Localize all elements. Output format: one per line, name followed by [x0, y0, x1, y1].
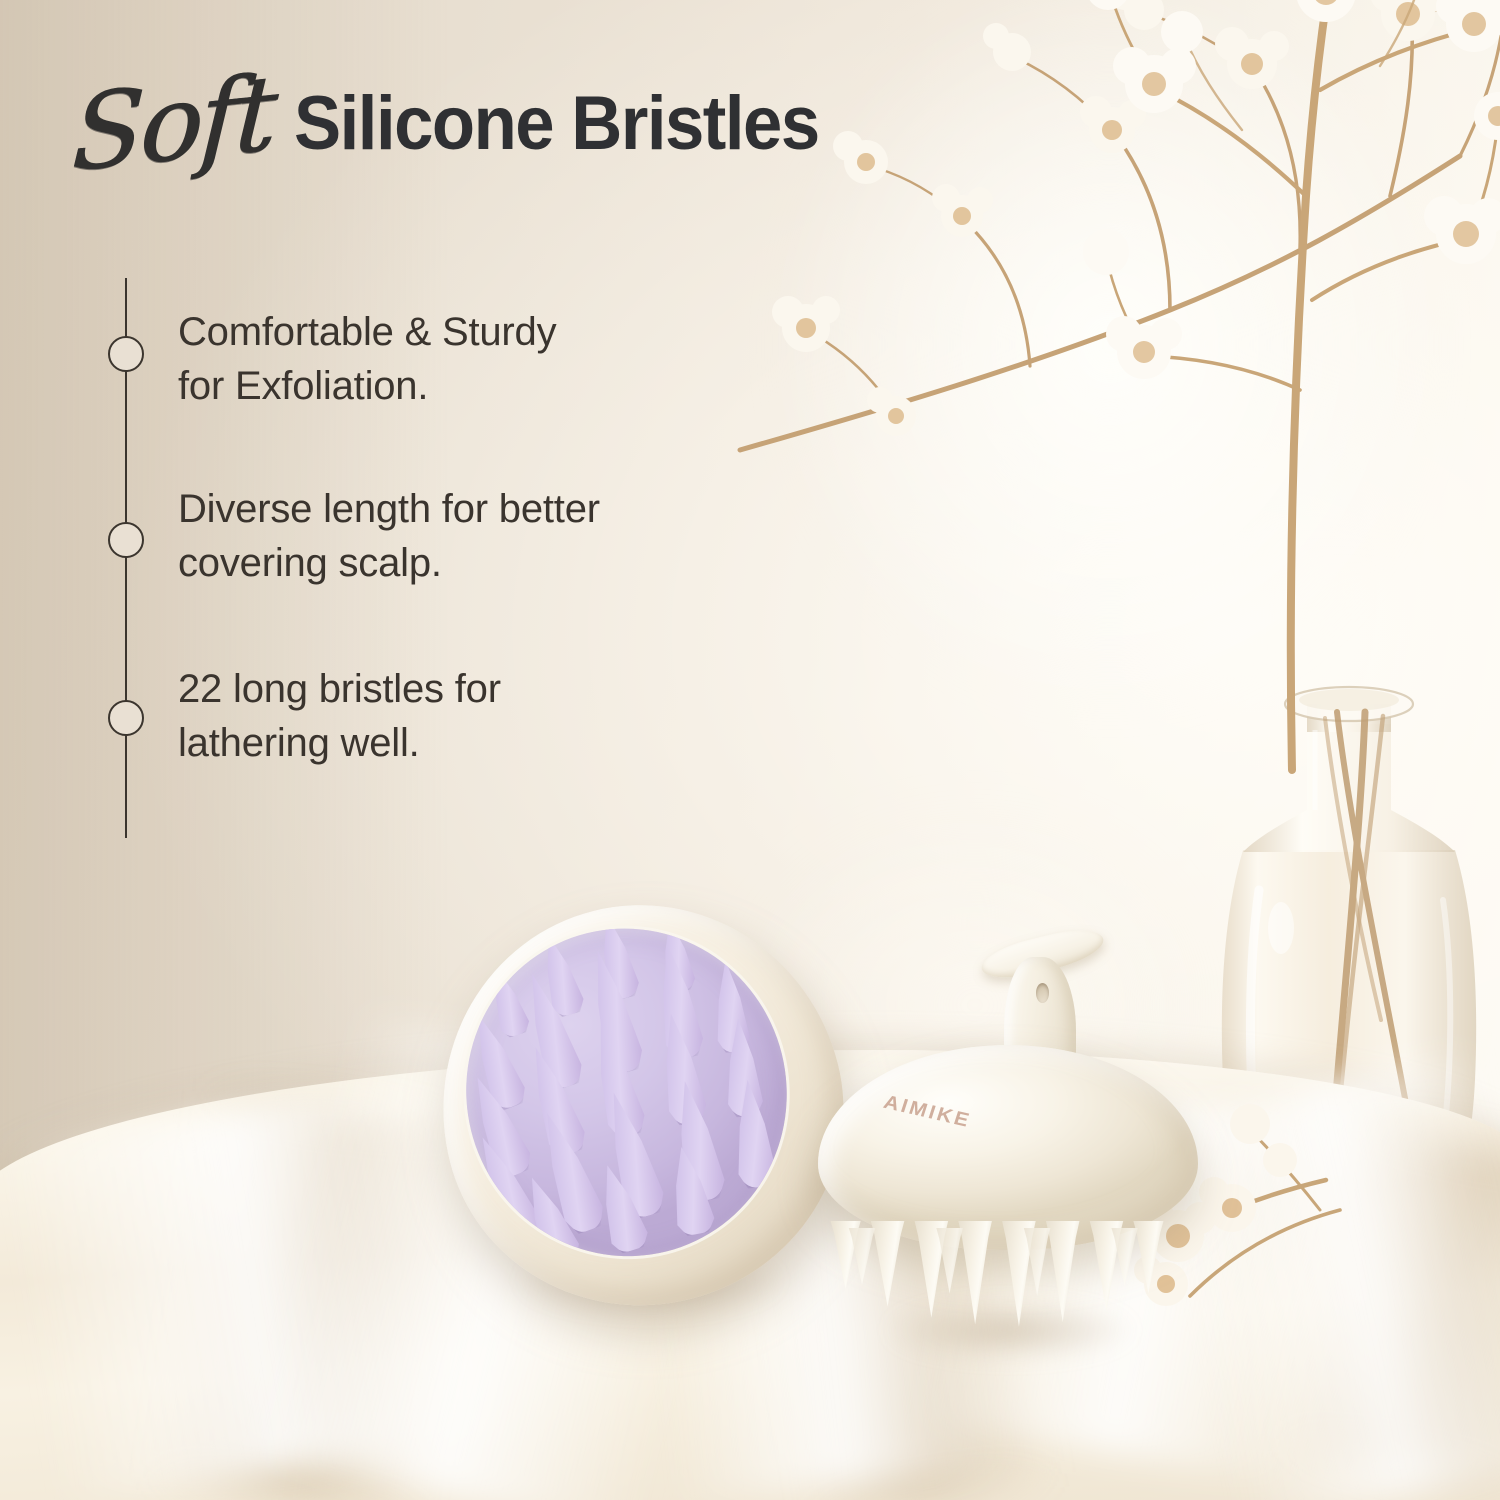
title-main-text: Silicone Bristles: [294, 86, 819, 172]
feature-item-long-bristles: 22 long bristles for lathering well.: [178, 663, 501, 770]
feature-line-1-prefix: 22 long bristles: [178, 667, 455, 711]
feature-line-2-prefix: for: [178, 364, 235, 408]
feature-line-1: Comfortable & Sturdy: [178, 306, 556, 360]
feature-timeline: Comfortable & Sturdy for Exfoliation. Di…: [108, 278, 748, 838]
white-brush-bristles: [826, 1221, 1191, 1331]
white-brush-body: AIMIKE: [818, 1045, 1198, 1250]
timeline-node-1: [108, 336, 144, 372]
brand-logo: AIMIKE: [880, 1092, 973, 1133]
feature-line-2-emphasis: Exfoliation.: [235, 364, 428, 408]
page-title: Soft Silicone Bristles: [72, 76, 858, 172]
feature-line-2: for Exfoliation.: [178, 360, 556, 414]
product-brush-white: AIMIKE: [818, 945, 1198, 1335]
feature-line-1-emphasis: for: [455, 667, 501, 711]
timeline-node-3: [108, 700, 144, 736]
feature-line-1: 22 long bristles for: [178, 663, 501, 717]
title-script-word: Soft: [70, 65, 282, 183]
feature-line-2: lathering well.: [178, 717, 501, 771]
feature-item-comfortable-sturdy: Comfortable & Sturdy for Exfoliation.: [178, 306, 556, 413]
infographic-canvas: Soft Silicone Bristles Comfortable & Stu…: [0, 0, 1500, 1500]
timeline-node-2: [108, 522, 144, 558]
feature-line-2: covering scalp.: [178, 537, 600, 591]
white-brush-hang-hole: [1036, 983, 1049, 1003]
feature-line-1: Diverse length for better: [178, 483, 600, 537]
feature-item-diverse-length: Diverse length for better covering scalp…: [178, 483, 600, 590]
